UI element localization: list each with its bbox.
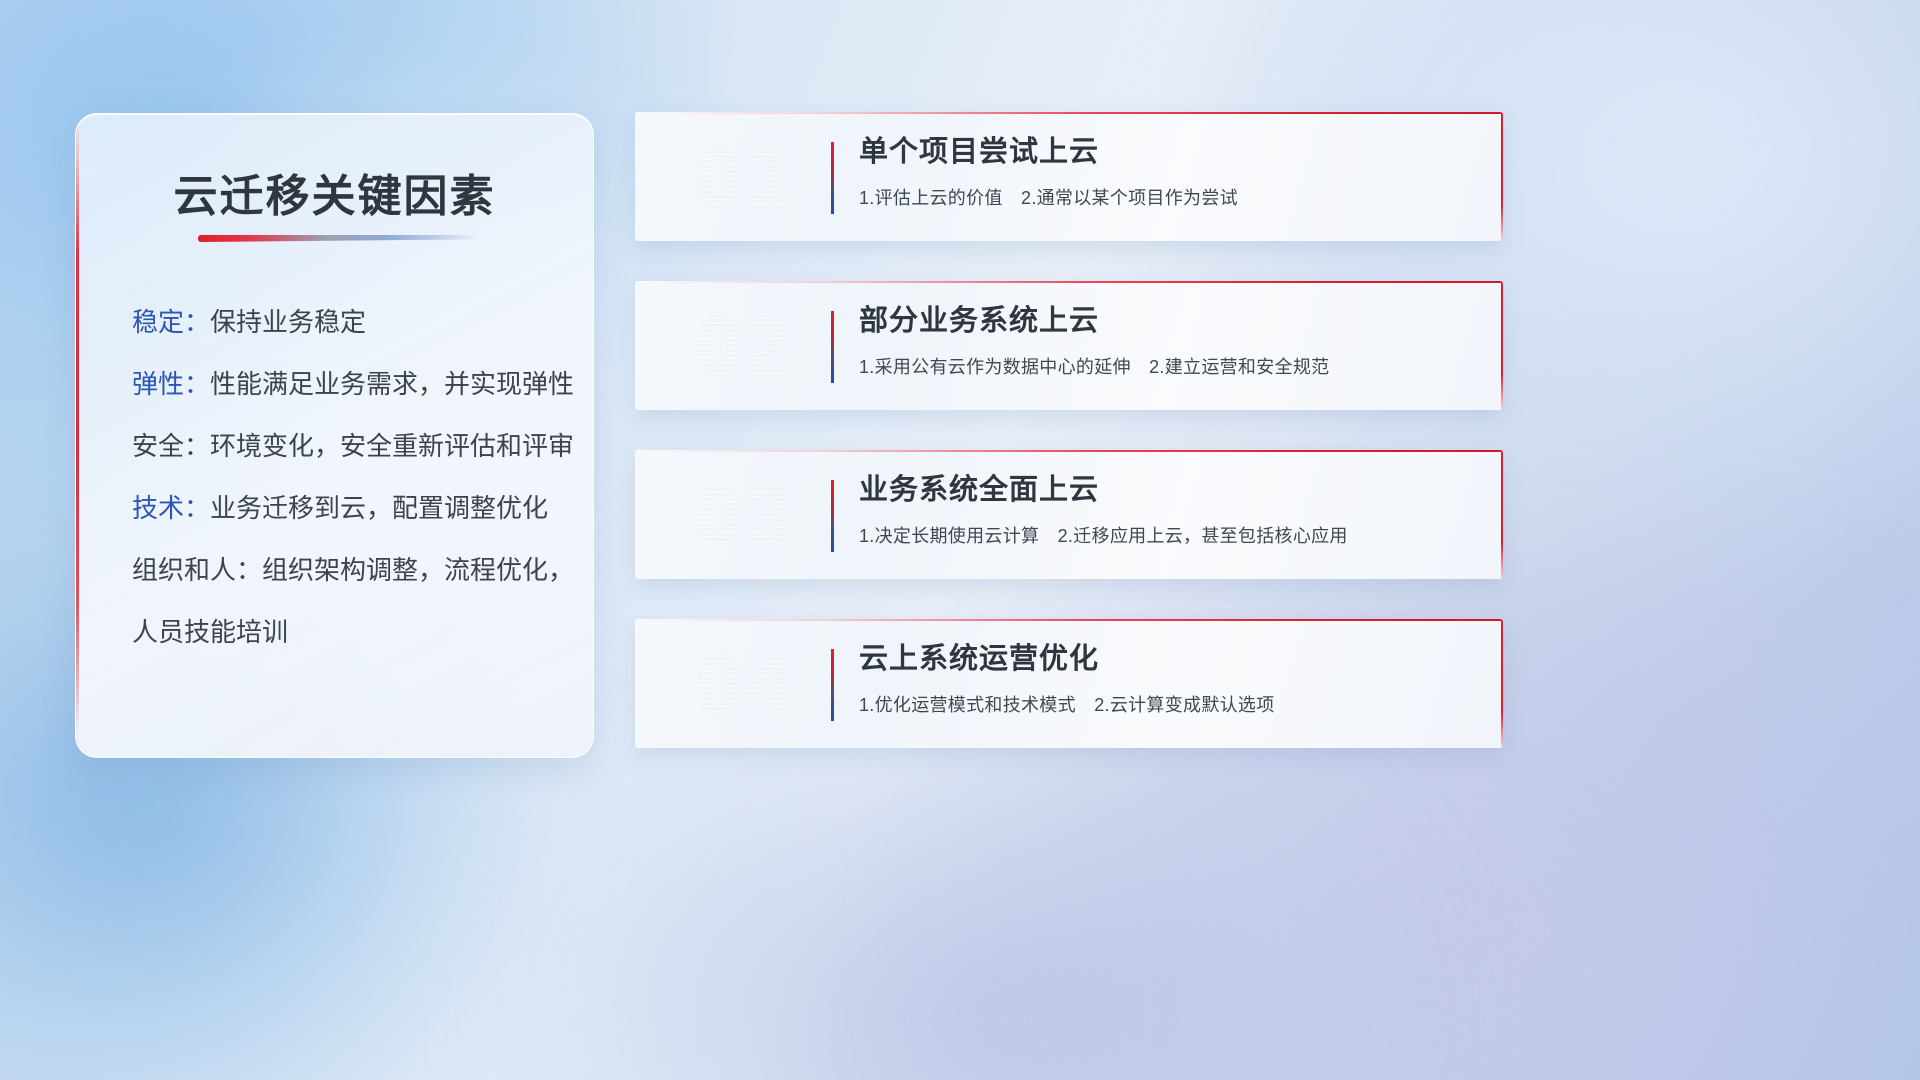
list-item: 技术：业务迁移到云，配置调整优化 [132,495,559,521]
list-item-value: 业务迁移到云，配置调整优化 [210,493,548,523]
key-factors-list: 稳定：保持业务稳定 弹性：性能满足业务需求，并实现弹性 安全：环境变化，安全重新… [132,309,559,681]
stage-number: 02 [657,299,833,395]
key-factors-panel: 云迁移关键因素 稳定：保持业务稳定 弹性：性能满足业务需求，并实现弹性 安全：环… [75,113,594,758]
stage-card[interactable]: 02 02 部分业务系统上云 1.采用公有云作为数据中心的延伸 2.建立运营和安… [635,281,1503,410]
stage-card[interactable]: 03 03 业务系统全面上云 1.决定长期使用云计算 2.迁移应用上云，甚至包括… [635,450,1503,579]
card-title: 云上系统运营优化 [859,641,1477,677]
list-item-value: 人员技能培训 [132,617,288,647]
card-title: 部分业务系统上云 [859,303,1477,339]
list-item-key: 组织和人： [132,555,262,585]
card-detail: 1.评估上云的价值 2.通常以某个项目作为尝试 [859,184,1477,210]
list-item-value: 环境变化，安全重新评估和评审 [210,431,574,461]
card-text-block: 云上系统运营优化 1.优化运营模式和技术模式 2.云计算变成默认选项 [859,641,1477,717]
card-divider-bar [831,311,834,383]
card-title: 业务系统全面上云 [859,472,1477,508]
card-divider-bar [831,142,834,214]
card-text-block: 业务系统全面上云 1.决定长期使用云计算 2.迁移应用上云，甚至包括核心应用 [859,472,1477,548]
title-underline-rule [198,235,480,242]
stage-number: 01 [657,130,833,226]
card-divider-bar [831,480,834,552]
stage-number: 03 [657,468,833,564]
stage-cards-list: 01 01 单个项目尝试上云 1.评估上云的价值 2.通常以某个项目作为尝试 0… [635,112,1503,788]
card-detail: 1.决定长期使用云计算 2.迁移应用上云，甚至包括核心应用 [859,522,1477,548]
card-divider-bar [831,649,834,721]
list-item-key: 稳定： [132,307,210,337]
list-item: 弹性：性能满足业务需求，并实现弹性 [132,371,559,397]
list-item-key: 弹性： [132,369,210,399]
list-item-value: 性能满足业务需求，并实现弹性 [210,369,574,399]
stage-card[interactable]: 01 01 单个项目尝试上云 1.评估上云的价值 2.通常以某个项目作为尝试 [635,112,1503,241]
page-title: 云迁移关键因素 [76,160,593,224]
list-item: 稳定：保持业务稳定 [132,309,559,335]
stage-card[interactable]: 04 04 云上系统运营优化 1.优化运营模式和技术模式 2.云计算变成默认选项 [635,619,1503,748]
slide-content: 云迁移关键因素 稳定：保持业务稳定 弹性：性能满足业务需求，并实现弹性 安全：环… [0,0,1920,1080]
card-title: 单个项目尝试上云 [859,134,1477,170]
stage-number: 04 [657,637,833,733]
list-item-value: 保持业务稳定 [210,307,366,337]
list-item: 人员技能培训 [132,619,559,645]
card-text-block: 单个项目尝试上云 1.评估上云的价值 2.通常以某个项目作为尝试 [859,134,1477,210]
list-item-key: 安全： [132,431,210,461]
list-item-value: 组织架构调整，流程优化， [262,555,574,585]
card-detail: 1.采用公有云作为数据中心的延伸 2.建立运营和安全规范 [859,353,1477,379]
list-item: 安全：环境变化，安全重新评估和评审 [132,433,559,459]
card-text-block: 部分业务系统上云 1.采用公有云作为数据中心的延伸 2.建立运营和安全规范 [859,303,1477,379]
card-detail: 1.优化运营模式和技术模式 2.云计算变成默认选项 [859,691,1477,717]
list-item: 组织和人：组织架构调整，流程优化， [132,557,559,583]
list-item-key: 技术： [132,493,210,523]
